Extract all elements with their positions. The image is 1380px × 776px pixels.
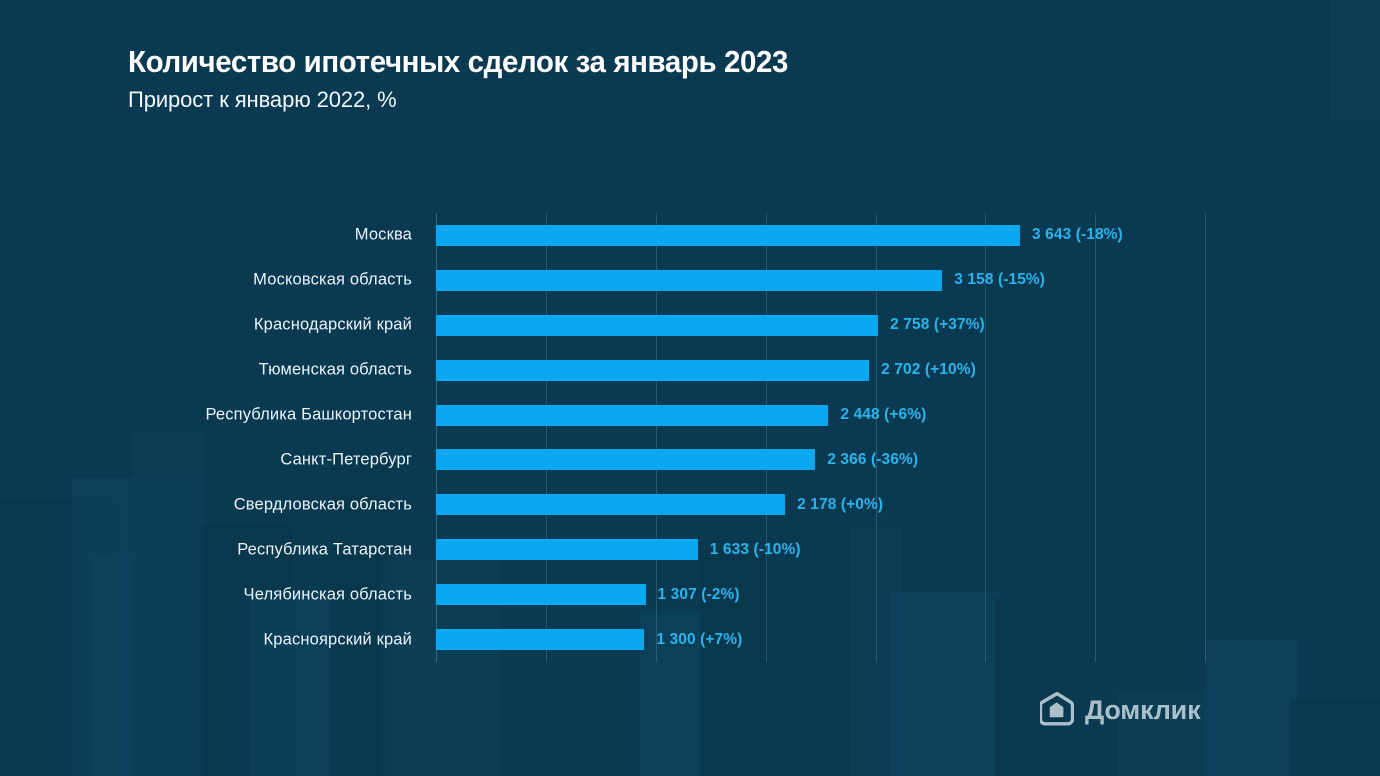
infographic-canvas: Количество ипотечных сделок за январь 20… — [0, 0, 1380, 776]
bar[interactable] — [436, 629, 644, 650]
bar-value-label: 1 300 (+7%) — [656, 631, 742, 649]
bar-row: 3 643 (-18%) — [436, 225, 1205, 246]
bar[interactable] — [436, 584, 646, 605]
bar[interactable] — [436, 270, 942, 291]
bar[interactable] — [436, 539, 698, 560]
bar-value-label: 3 158 (-15%) — [954, 271, 1045, 289]
bar[interactable] — [436, 315, 878, 336]
bar-row: 2 366 (-36%) — [436, 449, 1205, 470]
category-label: Свердловская область — [234, 495, 412, 514]
bar[interactable] — [436, 360, 869, 381]
brand-name: Домклик — [1085, 697, 1200, 724]
bar-row: 2 702 (+10%) — [436, 360, 1205, 381]
skyline-block — [1290, 700, 1380, 776]
category-label: Тюменская область — [259, 361, 412, 380]
bar-value-label: 1 633 (-10%) — [710, 541, 801, 559]
category-label: Челябинская область — [244, 585, 412, 604]
skyline-block — [1205, 640, 1297, 776]
bar-value-label: 2 758 (+37%) — [890, 316, 985, 334]
bar-value-label: 1 307 (-2%) — [658, 586, 740, 604]
bar-row: 1 633 (-10%) — [436, 539, 1205, 560]
bar-value-label: 2 448 (+6%) — [840, 406, 926, 424]
category-label: Красноярский край — [264, 630, 412, 649]
bar-row: 1 300 (+7%) — [436, 629, 1205, 650]
bar[interactable] — [436, 449, 815, 470]
page-title: Количество ипотечных сделок за январь 20… — [128, 44, 788, 81]
bar-row: 1 307 (-2%) — [436, 584, 1205, 605]
category-label: Республика Башкортостан — [205, 406, 412, 425]
bar-value-label: 2 702 (+10%) — [881, 361, 976, 379]
category-label: Краснодарский край — [254, 316, 412, 335]
skyline-block — [0, 0, 70, 90]
house-pentagon-icon — [1040, 692, 1074, 728]
bar-value-label: 2 366 (-36%) — [827, 451, 918, 469]
category-label: Москва — [355, 226, 412, 245]
bar-value-label: 3 643 (-18%) — [1032, 226, 1123, 244]
plot-area: 3 643 (-18%)3 158 (-15%)2 758 (+37%)2 70… — [436, 213, 1205, 662]
bar[interactable] — [436, 225, 1020, 246]
category-label: Московская область — [253, 271, 412, 290]
bar[interactable] — [436, 405, 828, 426]
bar-row: 2 758 (+37%) — [436, 315, 1205, 336]
bar[interactable] — [436, 494, 785, 515]
chart-header: Количество ипотечных сделок за январь 20… — [128, 44, 823, 113]
category-label: Санкт-Петербург — [280, 450, 412, 469]
category-axis: МоскваМосковская областьКраснодарский кр… — [60, 213, 412, 662]
bar-row: 2 178 (+0%) — [436, 494, 1205, 515]
bar-value-label: 2 178 (+0%) — [797, 496, 883, 514]
page-subtitle: Прирост к январю 2022, % — [128, 87, 823, 113]
bar-row: 3 158 (-15%) — [436, 270, 1205, 291]
skyline-block — [1330, 0, 1380, 120]
category-label: Республика Татарстан — [237, 540, 412, 559]
brand-logo[interactable]: Домклик — [1040, 692, 1200, 728]
bar-row: 2 448 (+6%) — [436, 405, 1205, 426]
gridline — [1205, 213, 1206, 662]
